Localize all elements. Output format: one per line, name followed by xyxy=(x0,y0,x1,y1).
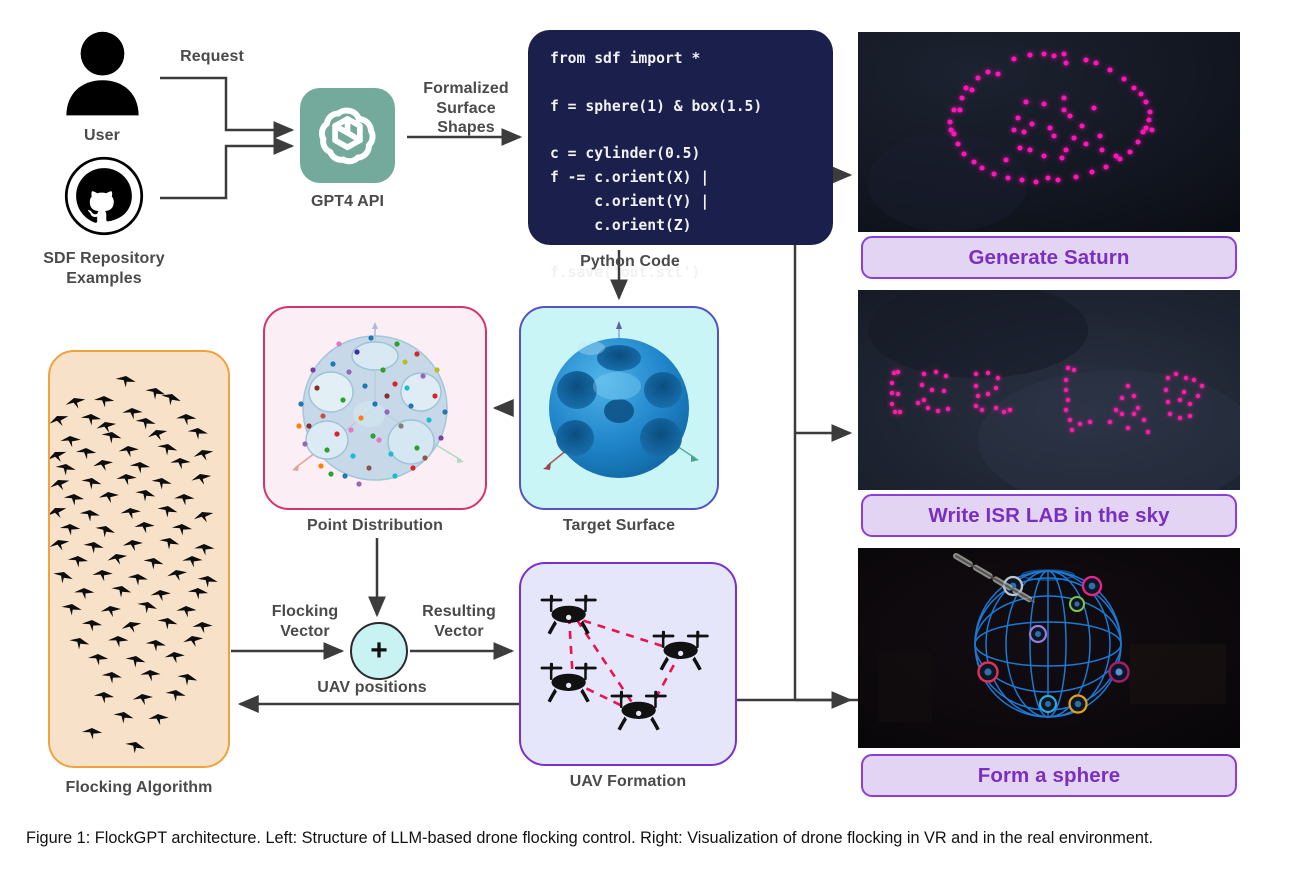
edge-label-formalized-surface-shapes: Formalized Surface Shapes xyxy=(411,79,521,138)
vr-panel-generate-saturn: Generate Saturn xyxy=(858,32,1240,287)
uav-formation-label: UAV Formation xyxy=(512,772,744,792)
vr-scene-saturn xyxy=(858,32,1240,232)
target-surface-box xyxy=(519,306,719,510)
vr-scene-sphere xyxy=(858,548,1240,748)
edge-label-uav-positions: UAV positions xyxy=(272,678,472,698)
user-icon xyxy=(55,28,150,123)
drone-glyphs xyxy=(541,595,709,731)
vr-caption-isr-lab: Write ISR LAB in the sky xyxy=(861,494,1237,537)
vr-caption-form-sphere: Form a sphere xyxy=(861,754,1237,797)
flocking-birds-render xyxy=(50,352,228,766)
uav-formation-render xyxy=(521,564,735,764)
target-surface-label: Target Surface xyxy=(512,516,726,536)
github-icon xyxy=(63,155,145,237)
vr-panel-isr-lab: Write ISR LAB in the sky xyxy=(858,290,1240,545)
user-label: User xyxy=(47,126,157,146)
edge-label-resulting-vector: Resulting Vector xyxy=(409,602,509,641)
figure-caption: Figure 1: FlockGPT architecture. Left: S… xyxy=(26,826,1264,850)
edge-label-request: Request xyxy=(170,47,254,67)
openai-logo-icon xyxy=(313,101,382,170)
vr-caption-generate-saturn: Generate Saturn xyxy=(861,236,1237,279)
gpt4-api-card xyxy=(300,88,395,183)
edge-repo-to-gpt xyxy=(160,146,292,198)
gpt4-api-label: GPT4 API xyxy=(291,192,404,212)
target-surface-render xyxy=(521,308,717,508)
vr-scene-isr-lab xyxy=(858,290,1240,490)
flocking-algorithm-label: Flocking Algorithm xyxy=(28,778,250,798)
point-distribution-render xyxy=(265,308,485,508)
summing-junction: + xyxy=(350,622,408,680)
vr-panel-form-sphere: Form a sphere xyxy=(858,548,1240,806)
plus-icon: + xyxy=(352,624,406,678)
point-distribution-box xyxy=(263,306,487,510)
python-code-text: from sdf import * f = sphere(1) & box(1.… xyxy=(550,47,811,285)
point-distribution-label: Point Distribution xyxy=(253,516,497,536)
python-code-label: Python Code xyxy=(570,252,690,272)
python-code-box: from sdf import * f = sphere(1) & box(1.… xyxy=(528,30,833,245)
edge-label-flocking-vector: Flocking Vector xyxy=(259,602,351,641)
uav-formation-box xyxy=(519,562,737,766)
edge-user-to-gpt xyxy=(160,78,292,130)
flockgpt-architecture-figure: User SDF Repository Examples xyxy=(0,0,1292,896)
flocking-algorithm-box xyxy=(48,350,230,768)
sdf-repository-label: SDF Repository Examples xyxy=(28,249,180,288)
